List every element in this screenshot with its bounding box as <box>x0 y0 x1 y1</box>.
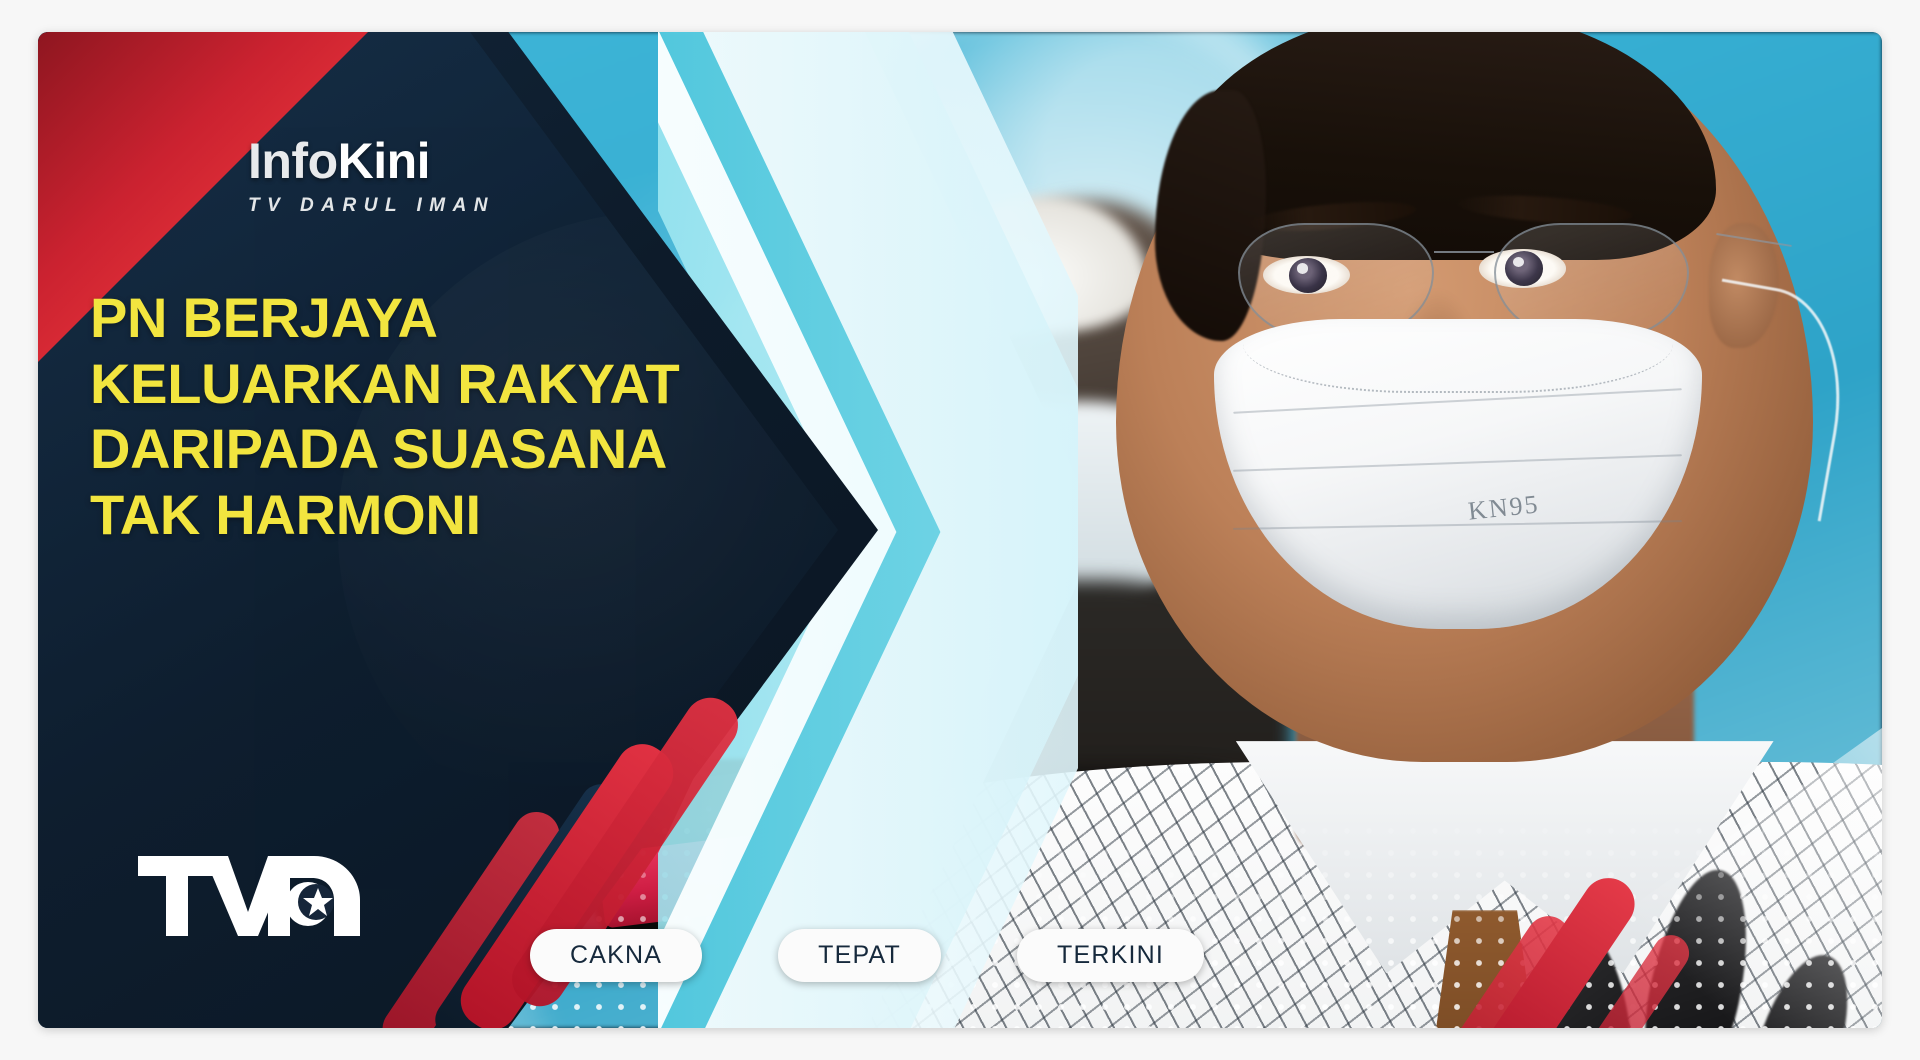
page-canvas: KN95 <box>0 0 1920 1060</box>
crescent-star-icon <box>286 882 334 926</box>
head: KN95 <box>1116 32 1813 762</box>
brand-name-kini: Kini <box>338 133 430 189</box>
badge-cakna[interactable]: CAKNA <box>530 929 702 982</box>
kn95-face-mask: KN95 <box>1214 319 1702 629</box>
mask-label: KN95 <box>1466 489 1540 526</box>
mask-seam <box>1243 344 1672 394</box>
headline-line-2: KELUARKAN RAKYAT <box>90 351 750 417</box>
main-subject: KN95 <box>997 32 1882 1028</box>
headline-line-3: DARIPADA SUASANA <box>90 416 750 482</box>
news-thumbnail-card: KN95 <box>38 32 1882 1028</box>
mask-fold <box>1234 454 1683 471</box>
mask-fold <box>1233 520 1682 529</box>
brand-tagline: TV DARUL IMAN <box>248 195 495 217</box>
glasses-bridge <box>1434 251 1494 253</box>
headline: PN BERJAYA KELUARKAN RAKYAT DARIPADA SUA… <box>90 285 750 547</box>
headline-line-4: TAK HARMONI <box>90 482 750 548</box>
headline-line-1: PN BERJAYA <box>90 285 750 351</box>
badge-terkini[interactable]: TERKINI <box>1017 929 1204 982</box>
tvd-logo <box>138 850 360 942</box>
badge-tepat[interactable]: TEPAT <box>778 929 941 982</box>
badge-row: CAKNA TEPAT TERKINI <box>530 929 1204 982</box>
brand-block: InfoKini TV DARUL IMAN <box>248 136 495 217</box>
brand-name: InfoKini <box>248 136 495 186</box>
brand-name-info: Info <box>248 133 338 189</box>
